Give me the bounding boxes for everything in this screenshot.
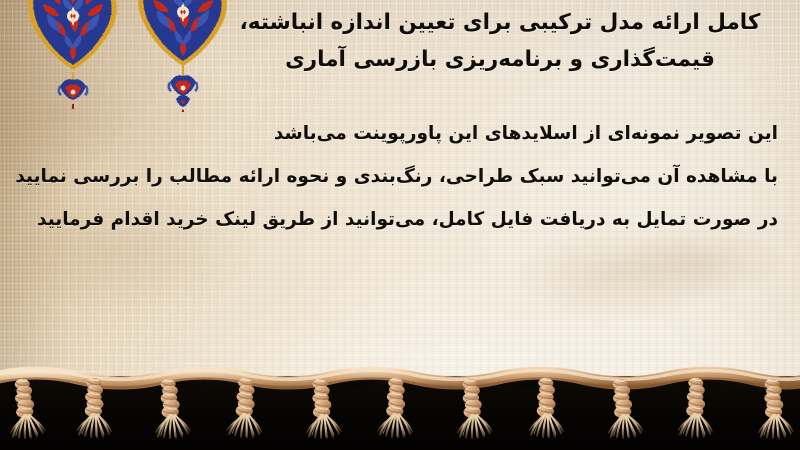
body-line-1: این تصویر نمونه‌ای از اسلایدهای این پاور… (18, 112, 778, 155)
slide-title: کامل ارائه مدل ترکیبی برای تعیین اندازه … (220, 4, 780, 78)
fringe-tassels-svg (0, 362, 800, 450)
presentation-slide: کامل ارائه مدل ترکیبی برای تعیین اندازه … (0, 0, 800, 450)
body-line-2: با مشاهده آن می‌توانید سبک طراحی، رنگ‌بن… (18, 155, 778, 198)
carpet-fringe-border (0, 362, 800, 450)
title-line-2: قیمت‌گذاری و برنامه‌ریزی بازرسی آماری (220, 41, 780, 78)
slide-body: این تصویر نمونه‌ای از اسلایدهای این پاور… (18, 112, 778, 241)
title-line-1: کامل ارائه مدل ترکیبی برای تعیین اندازه … (220, 4, 780, 41)
body-line-3: در صورت تمایل به دریافت فایل کامل، می‌تو… (18, 198, 778, 241)
